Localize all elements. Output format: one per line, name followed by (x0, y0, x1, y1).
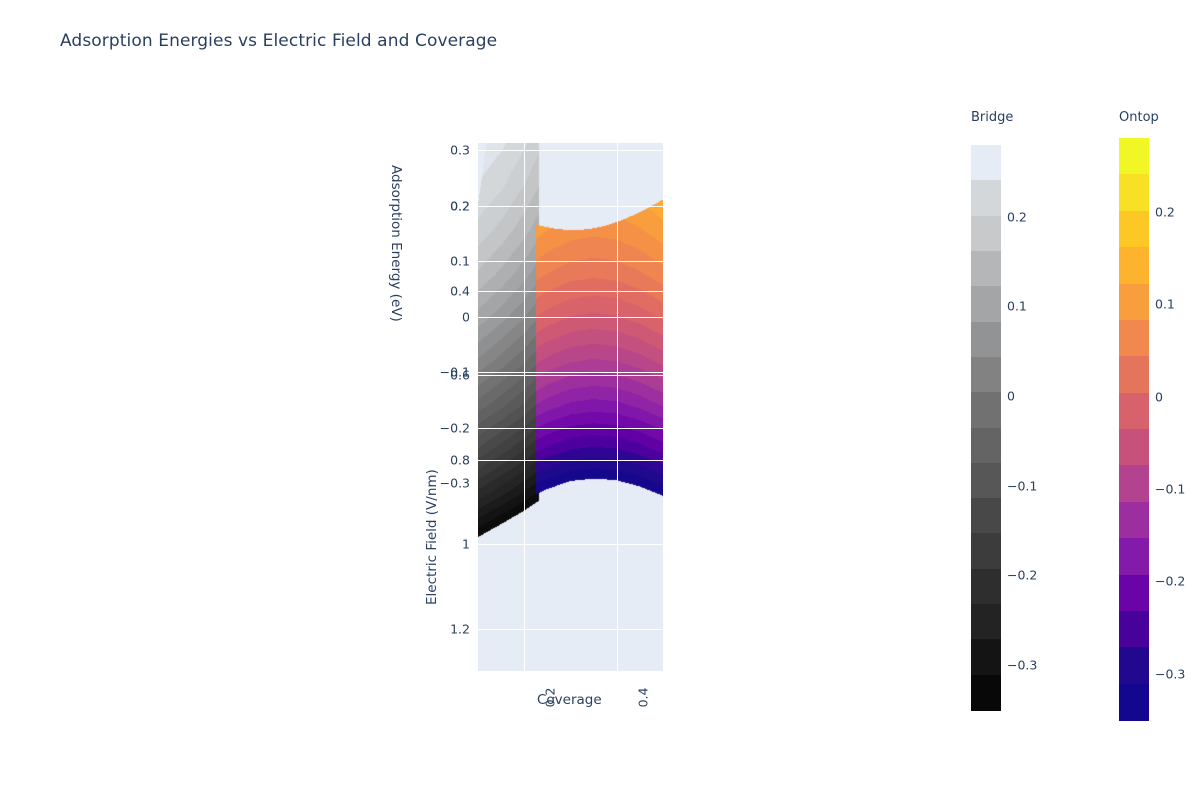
colorbar-swatch (971, 180, 1001, 216)
y-axis-tick-energy: −0.3 (440, 476, 470, 491)
contour-trace-ontop (478, 143, 663, 671)
gridline-horizontal (478, 629, 663, 630)
gridline-vertical (617, 143, 618, 671)
colorbar-swatch (1119, 538, 1149, 575)
gridline-horizontal (478, 291, 663, 292)
colorbar-tick-label: 0.2 (1155, 204, 1175, 219)
y-axis-tick-field: 0.2 (450, 199, 470, 214)
colorbar-swatch (971, 639, 1001, 675)
colorbar-tick-label: −0.3 (1155, 666, 1185, 681)
colorbar-swatch (1119, 647, 1149, 684)
colorbar-swatch (1119, 611, 1149, 648)
x-axis-tick: 0.4 (635, 688, 650, 708)
y-axis-tick-energy: 0.3 (450, 143, 470, 158)
colorbar-swatch (1119, 393, 1149, 430)
colorbar-bridge-strip (971, 145, 1001, 710)
gridline-horizontal (478, 150, 663, 151)
colorbar-swatch (971, 392, 1001, 428)
colorbar-swatch (971, 463, 1001, 499)
colorbar-swatch (971, 498, 1001, 534)
colorbar-ontop-title: Ontop (1119, 110, 1159, 125)
colorbar-swatch (971, 251, 1001, 287)
gridline-horizontal (478, 206, 663, 207)
colorbar-swatch (971, 286, 1001, 322)
colorbar-swatch (1119, 247, 1149, 284)
colorbar-tick-label: 0 (1155, 389, 1163, 404)
colorbar-tick-label: −0.1 (1007, 478, 1037, 493)
gridline-horizontal (478, 428, 663, 429)
colorbar-bridge-title: Bridge (971, 110, 1013, 125)
y-axis-tick-energy: −0.2 (440, 420, 470, 435)
colorbar-swatch (1119, 138, 1149, 175)
gridline-vertical (524, 143, 525, 671)
gridline-horizontal (478, 317, 663, 318)
y-axis-tick-energy: 0.1 (450, 254, 470, 269)
colorbar-swatch (971, 533, 1001, 569)
colorbar-tick-label: 0.2 (1007, 209, 1027, 224)
y-axis-tick-field: 1 (462, 537, 470, 552)
colorbar-bridge[interactable]: Bridge 0.20.10−0.1−0.2−0.3 (971, 110, 1091, 720)
colorbar-swatch (971, 145, 1001, 181)
y-axis-title-field: Electric Field (V/nm) (424, 469, 440, 605)
gridline-horizontal (478, 372, 663, 373)
y-axis-tick-energy: 0 (462, 309, 470, 324)
colorbar-swatch (1119, 284, 1149, 321)
y-axis-tick-field: 0.6 (450, 368, 470, 383)
colorbar-swatch (1119, 320, 1149, 357)
gridline-horizontal (478, 375, 663, 376)
colorbar-swatch (971, 357, 1001, 393)
x-axis-title: Coverage (537, 692, 602, 708)
contour-plot-area[interactable] (478, 143, 663, 671)
colorbar-tick-label: 0.1 (1007, 299, 1027, 314)
y-axis-title-energy: Adsorption Energy (eV) (388, 165, 404, 322)
colorbar-swatch (971, 569, 1001, 605)
gridline-horizontal (478, 206, 663, 207)
colorbar-swatch (1119, 465, 1149, 502)
colorbar-swatch (1119, 174, 1149, 211)
colorbar-swatch (1119, 684, 1149, 721)
y-axis-tick-field: 0.4 (450, 283, 470, 298)
gridline-horizontal (478, 460, 663, 461)
colorbar-swatch (1119, 429, 1149, 466)
colorbar-swatch (971, 428, 1001, 464)
colorbar-tick-label: −0.3 (1007, 658, 1037, 673)
colorbar-ontop-strip (1119, 138, 1149, 720)
colorbar-tick-label: −0.1 (1155, 482, 1185, 497)
colorbar-swatch (1119, 211, 1149, 248)
colorbar-tick-label: −0.2 (1155, 574, 1185, 589)
colorbar-swatch (971, 216, 1001, 252)
colorbar-swatch (1119, 502, 1149, 539)
gridline-horizontal (478, 261, 663, 262)
page-title: Adsorption Energies vs Electric Field an… (60, 31, 497, 51)
colorbar-swatch (971, 675, 1001, 711)
colorbar-tick-label: 0 (1007, 389, 1015, 404)
colorbar-swatch (971, 322, 1001, 358)
y-axis-tick-field: 1.2 (450, 621, 470, 636)
colorbar-tick-label: 0.1 (1155, 297, 1175, 312)
colorbar-swatch (971, 604, 1001, 640)
y-axis-tick-field: 0.8 (450, 452, 470, 467)
colorbar-swatch (1119, 575, 1149, 612)
gridline-horizontal (478, 544, 663, 545)
colorbar-ontop[interactable]: Ontop 0.20.10−0.1−0.2−0.3 (1119, 110, 1200, 720)
colorbar-swatch (1119, 356, 1149, 393)
colorbar-tick-label: −0.2 (1007, 568, 1037, 583)
